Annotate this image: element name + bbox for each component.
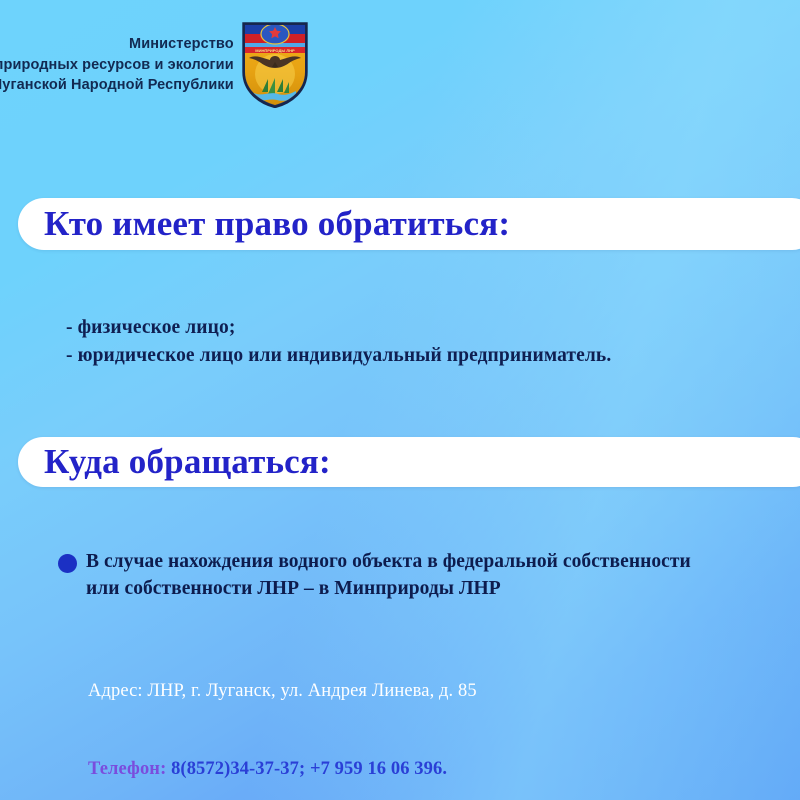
svg-text:МИНПРИРОДЫ ЛНР: МИНПРИРОДЫ ЛНР xyxy=(255,48,295,53)
ministry-header: Министерство природных ресурсов и эколог… xyxy=(0,22,792,108)
ministry-phone: Телефон: 8(8572)34-37-37; +7 959 16 06 3… xyxy=(88,757,800,781)
poster-canvas: Министерство природных ресурсов и эколог… xyxy=(0,0,800,800)
ministry-name-line-3: Луганской Народной Республики xyxy=(0,75,234,96)
applicant-type-list: - физическое лицо; - юридическое лицо ил… xyxy=(66,314,800,369)
ministry-name-line-1: Министерство xyxy=(0,34,234,55)
list-item: - физическое лицо; xyxy=(66,314,800,342)
list-item: - юридическое лицо или индивидуальный пр… xyxy=(66,342,800,370)
ministry-emblem-icon: МИНПРИРОДЫ ЛНР xyxy=(242,22,308,108)
bullet-item-federal: В случае нахождения водного объекта в фе… xyxy=(58,549,698,602)
ministry-address: Адрес: ЛНР, г. Луганск, ул. Андрея Линев… xyxy=(88,679,800,703)
section-title-where-to-apply: Куда обращаться: xyxy=(18,437,800,487)
ministry-name-line-2: природных ресурсов и экологии xyxy=(0,55,234,76)
ministry-name: Министерство природных ресурсов и эколог… xyxy=(0,34,234,96)
phone-label: Телефон: xyxy=(88,759,166,779)
phone-number: 8(8572)34-37-37; +7 959 16 06 396. xyxy=(171,759,447,779)
section-title-who-can-apply: Кто имеет право обратиться: xyxy=(18,198,800,250)
bullet-text: В случае нахождения водного объекта в фе… xyxy=(86,549,698,602)
bullet-dot-icon xyxy=(58,554,77,573)
